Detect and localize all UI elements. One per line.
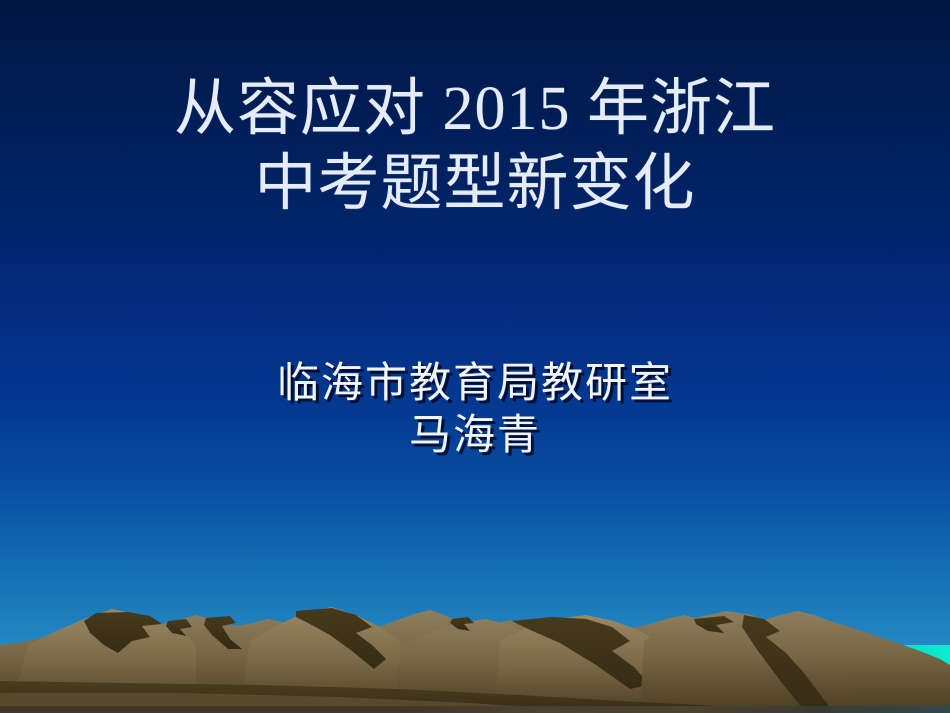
bottom-edge-strip [0,706,950,713]
slide-subtitle: 临海市教育局教研室 马海青 [0,358,950,462]
title-line-1: 从容应对 2015 年浙江 [0,78,950,141]
subtitle-organization: 临海市教育局教研室 [0,358,950,410]
title-line-2: 中考题型新变化 [0,153,950,216]
title-slide: 从容应对 2015 年浙江 中考题型新变化 临海市教育局教研室 马海青 [0,0,950,713]
mountain-range-graphic [0,593,950,713]
slide-title: 从容应对 2015 年浙江 中考题型新变化 [0,78,950,216]
subtitle-presenter: 马海青 [0,410,950,462]
